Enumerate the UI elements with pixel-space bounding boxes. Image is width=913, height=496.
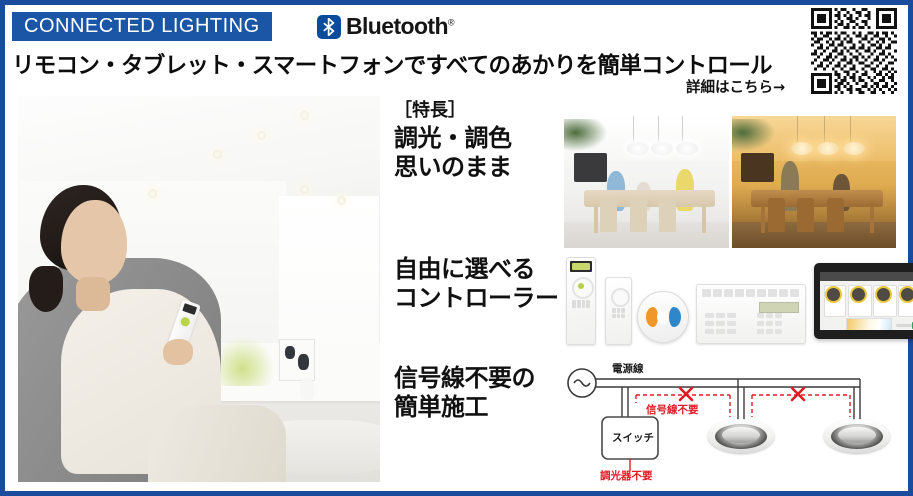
bluetooth-lockup: Bluetooth® [317,12,454,41]
hero-person-hair-back [29,266,63,312]
small-remote-keypad [612,308,625,318]
panel-right-keys [757,313,785,335]
room-chair [659,198,676,232]
dial-center-button [657,310,669,324]
remote-power-button [179,316,190,327]
room-tv [574,153,607,182]
connected-lighting-banner: CONNECTED LIGHTING [12,12,272,41]
hero-wall-art [279,339,315,381]
pendant-cord [850,116,851,142]
ceiling-downlight [257,131,266,140]
room-chair [768,198,785,232]
hero-plant [221,328,275,386]
remote-screen [182,303,197,315]
table-leg [594,207,598,233]
feature-3-line1: 信号線不要の [394,364,535,393]
pendant-cord [633,116,634,142]
registered-mark: ® [448,17,454,27]
panel-display [759,302,799,313]
hero-person-neck [76,277,110,311]
room-foliage [564,119,610,153]
room-chair [827,198,844,232]
tablet-brightness-slider [896,324,913,327]
tablet-screen [820,272,913,330]
features-label: ［特長］ [394,96,466,122]
pendant-cord [658,116,659,142]
controller-lineup [564,257,898,347]
small-remote-dial-ring [611,288,630,307]
cool-color-petal [669,307,681,327]
feature-2-line2: コントローラー [394,284,559,313]
feature-2-line1: 自由に選べる [394,255,559,284]
banner-title: CONNECTED LIGHTING [24,15,260,38]
tablet-scene-thumb [901,288,913,301]
wall-control-panel [696,284,806,344]
downlight-fixture [708,419,774,453]
connected-lighting-poster: CONNECTED LIGHTING Bluetooth® リモコン・タブレット… [0,0,913,496]
feature-3-line2: 簡単施工 [394,393,535,422]
tablet-app-titlebar [820,272,913,281]
bluetooth-icon [317,15,341,39]
qr-caption: 詳細はこちら→ [686,76,785,97]
wiring-diagram: 電源線 スイッチ 信号線不要 調光器不要 [564,355,898,483]
hero-vase [300,378,314,400]
tablet-controller [814,263,913,339]
table-leg [870,207,874,233]
tablet-scene-thumb [852,288,865,301]
hero-photo [18,96,380,482]
panel-left-keys [705,313,739,335]
hero-person-hand [163,339,193,365]
remote-keypad [572,300,590,308]
ceiling-downlight [337,196,346,205]
room-chair [797,198,814,232]
bluetooth-wordmark: Bluetooth® [346,15,454,38]
tablet-scene-thumb [877,288,890,301]
table-leg [761,207,765,233]
downlight-lens [838,427,876,443]
warm-color-petal [646,307,658,327]
panel-top-button-row [702,289,800,297]
room-chair [630,198,647,232]
room-tv [741,153,774,182]
power-line-label: 電源線 [612,361,644,376]
tablet-color-picker [846,318,892,330]
pendant-cord [682,116,683,142]
pendant-cord [797,116,798,142]
room-photo-cool-white [564,116,729,248]
room-chair [600,198,617,232]
feature-1-line2: 思いのまま [394,153,512,182]
remote-controller-small [605,277,632,345]
room-scene-photos [564,116,896,248]
remote-lcd-screen [572,263,590,270]
tablet-scene-thumb [827,288,840,301]
remote-dial-center [578,283,584,289]
feature-1-dimming-color: 調光・調色 思いのまま [394,124,512,183]
feature-3-wiring: 信号線不要の 簡単施工 [394,364,535,423]
qr-code[interactable] [811,8,897,94]
feature-2-controllers: 自由に選べる コントローラー [394,255,559,314]
downlight-lens [722,427,760,443]
header-subtitle: リモコン・タブレット・スマートフォンですべてのあかりを簡単コントロール [12,48,772,80]
downlight-fixture [824,419,890,453]
remote-controller-large [566,257,596,345]
round-dial-controller [637,291,689,343]
hero-person-lap [148,405,286,482]
pendant-cord [824,116,825,142]
no-dimmer-label: 調光器不要 [600,468,653,483]
room-photo-warm-amber [732,116,897,248]
hero-person-head [61,200,127,284]
room-foliage [732,119,778,153]
switch-label: スイッチ [612,430,654,445]
ceiling-downlight [148,189,157,198]
feature-1-line1: 調光・調色 [394,124,512,153]
table-leg [702,207,706,233]
no-signal-line-label: 信号線不要 [646,402,699,417]
